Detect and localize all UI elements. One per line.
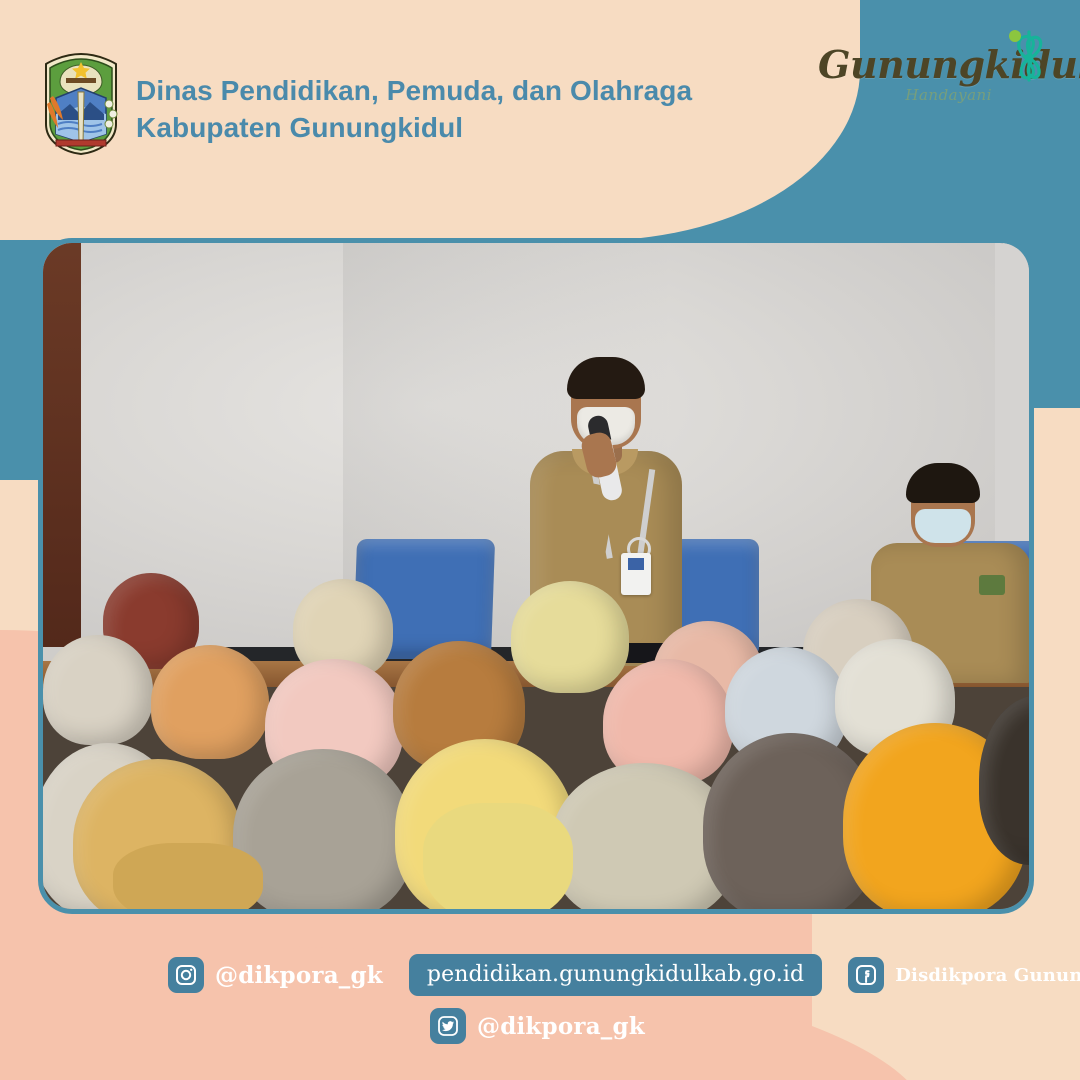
poster-footer: @dikpora_gk pendidikan.gunungkidulkab.go… xyxy=(0,938,1080,1080)
photo-scene xyxy=(43,243,1029,909)
twitter-icon[interactable] xyxy=(430,1008,466,1044)
twitter-handle[interactable]: @dikpora_gk xyxy=(477,1013,645,1040)
gunungkidul-brand-logo: Gunungkidul Handayani xyxy=(818,46,1058,142)
facebook-icon[interactable] xyxy=(848,957,884,993)
poster-header: Dinas Pendidikan, Pemuda, dan Olahraga K… xyxy=(0,0,1080,200)
footer-row-secondary: @dikpora_gk xyxy=(430,1008,645,1044)
facebook-page-name[interactable]: Disdikpora Gunungkidul xyxy=(895,965,1080,986)
audience-member xyxy=(43,635,153,745)
brand-tagline: Handayani xyxy=(818,86,992,104)
meeting-photograph xyxy=(38,238,1034,914)
title-line-1: Dinas Pendidikan, Pemuda, dan Olahraga xyxy=(136,75,692,106)
title-line-2: Kabupaten Gunungkidul xyxy=(136,109,776,146)
speaker-id-badge xyxy=(621,553,651,595)
gunungkidul-dragonfly-ornament-icon xyxy=(996,24,1062,86)
audience-member xyxy=(511,581,629,693)
audience-member xyxy=(151,645,269,759)
officer-uniform-patch xyxy=(979,575,1005,595)
officer-face-mask xyxy=(915,509,971,543)
gunungkidul-regency-coat-of-arms-icon xyxy=(42,52,120,156)
audience-member-scarf xyxy=(423,803,573,909)
footer-row-primary: @dikpora_gk pendidikan.gunungkidulkab.go… xyxy=(168,954,1080,996)
page-title: Dinas Pendidikan, Pemuda, dan Olahraga K… xyxy=(136,72,776,146)
poster-canvas: Dinas Pendidikan, Pemuda, dan Olahraga K… xyxy=(0,0,1080,1080)
audience-member-scarf xyxy=(113,843,263,909)
website-url-pill[interactable]: pendidikan.gunungkidulkab.go.id xyxy=(409,954,822,996)
instagram-handle[interactable]: @dikpora_gk xyxy=(215,962,383,989)
wooden-wall-panel xyxy=(43,243,81,663)
instagram-icon[interactable] xyxy=(168,957,204,993)
